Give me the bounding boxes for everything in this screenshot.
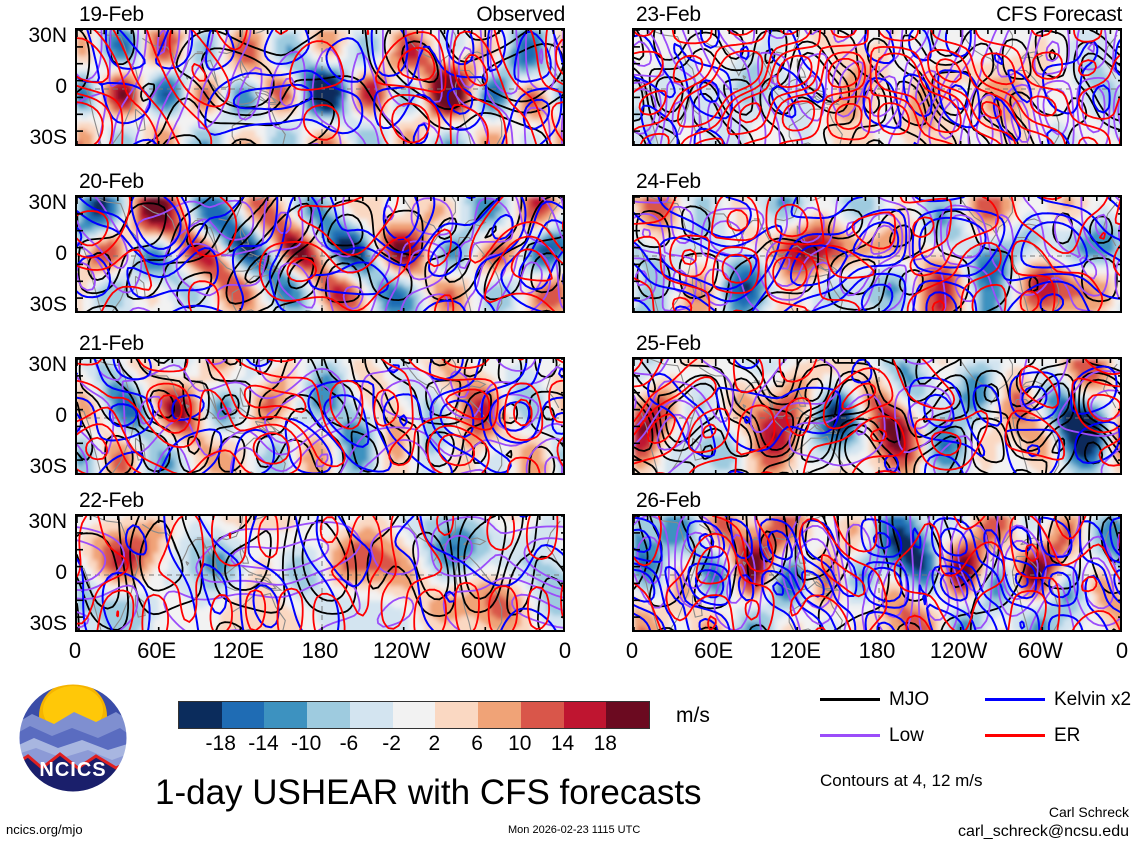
x-tick-label: 60E (137, 640, 176, 662)
y-tick-label: 0 (5, 562, 67, 583)
x-tick-label: 120W (373, 640, 430, 662)
x-tick-label: 60W (1018, 640, 1063, 662)
y-tick-label: 30S (5, 127, 67, 148)
column-header-cfs-forecast: CFS Forecast (996, 4, 1122, 25)
legend-line-swatch (985, 734, 1045, 737)
contour-levels-note: Contours at 4, 12 m/s (820, 772, 983, 789)
y-tick-label: 0 (5, 243, 67, 264)
shaded-field (634, 516, 1122, 632)
y-tick-label: 30S (5, 456, 67, 477)
colorbar-segment (564, 702, 607, 728)
y-tick-label: 30N (5, 192, 67, 213)
shaded-field (634, 197, 1122, 313)
panel-date-label: 24-Feb (636, 171, 701, 192)
site-url[interactable]: ncics.org/mjo (6, 823, 83, 836)
legend-item-er[interactable]: ER (985, 726, 1080, 745)
panel-date-label: 22-Feb (79, 490, 144, 511)
y-tick-label: 0 (5, 405, 67, 426)
shaded-field (77, 359, 565, 475)
legend-label: Low (889, 726, 924, 745)
panel-date-label: 20-Feb (79, 171, 144, 192)
contour-legend: MJOKelvin x2LowER (820, 690, 1120, 760)
panel-date-label: 21-Feb (79, 333, 144, 354)
legend-item-kelvin-x2[interactable]: Kelvin x2 (985, 690, 1131, 709)
y-tick-label: 30S (5, 294, 67, 315)
colorbar-segment (435, 702, 478, 728)
main-title: 1-day USHEAR with CFS forecasts (155, 775, 702, 810)
legend-item-mjo[interactable]: MJO (820, 690, 929, 709)
y-tick-label: 30N (5, 511, 67, 532)
colorbar-unit-label: m/s (676, 705, 710, 726)
colorbar-tick-label: 6 (471, 733, 483, 754)
y-tick-label: 0 (5, 76, 67, 97)
map-plot-area[interactable] (632, 28, 1122, 146)
colorbar-tick-label: 14 (551, 733, 574, 754)
legend-line-swatch (985, 698, 1045, 701)
x-tick-label: 120W (930, 640, 987, 662)
legend-label: Kelvin x2 (1054, 690, 1131, 709)
panel-date-label: 23-Feb (636, 4, 701, 25)
author-name: Carl Schreck (1049, 805, 1129, 819)
panel-date-label: 25-Feb (636, 333, 701, 354)
ncics-logo-text: NCICS (12, 759, 134, 782)
panel-date-label: 26-Feb (636, 490, 701, 511)
map-plot-area[interactable] (75, 357, 565, 475)
map-plot-area[interactable] (75, 195, 565, 313)
colorbar-segment (393, 702, 436, 728)
legend-line-swatch (820, 698, 880, 701)
timestamp: Mon 2026-02-23 1115 UTC (508, 825, 640, 836)
colorbar-tick-label: -6 (340, 733, 359, 754)
ncics-logo: NCICS (12, 682, 134, 794)
map-plot-area[interactable] (632, 514, 1122, 632)
x-tick-label: 60W (461, 640, 506, 662)
x-tick-label: 0 (626, 640, 638, 662)
colorbar-tick-label: 2 (429, 733, 441, 754)
map-plot-area[interactable] (75, 514, 565, 632)
y-tick-label: 30S (5, 613, 67, 634)
colorbar-tick-label: -2 (382, 733, 401, 754)
legend-line-swatch (820, 734, 880, 737)
x-tick-label: 180 (302, 640, 339, 662)
colorbar (178, 701, 650, 729)
colorbar-segment (521, 702, 564, 728)
colorbar-tick-label: -10 (291, 733, 321, 754)
column-header-observed: Observed (476, 4, 565, 25)
legend-label: ER (1054, 726, 1080, 745)
shaded-field (77, 197, 565, 313)
colorbar-segment (264, 702, 307, 728)
shaded-field (77, 30, 565, 146)
shaded-field (77, 516, 565, 632)
legend-label: MJO (889, 690, 929, 709)
shaded-field (634, 359, 1122, 475)
colorbar-tick-label: -14 (248, 733, 278, 754)
x-tick-label: 180 (859, 640, 896, 662)
colorbar-tick-label: -18 (206, 733, 236, 754)
map-plot-area[interactable] (75, 28, 565, 146)
shaded-field (634, 30, 1122, 146)
x-tick-label: 120E (213, 640, 264, 662)
x-tick-label: 0 (69, 640, 81, 662)
colorbar-tick-label: 18 (594, 733, 617, 754)
author-email[interactable]: carl_schreck@ncsu.edu (958, 824, 1129, 840)
y-tick-label: 30N (5, 354, 67, 375)
colorbar-segment (222, 702, 265, 728)
colorbar-segment (350, 702, 393, 728)
map-plot-area[interactable] (632, 357, 1122, 475)
colorbar-segment (478, 702, 521, 728)
colorbar-tick-label: 10 (508, 733, 531, 754)
y-tick-label: 30N (5, 25, 67, 46)
x-tick-label: 60E (694, 640, 733, 662)
colorbar-segment (307, 702, 350, 728)
panel-date-label: 19-Feb (79, 4, 144, 25)
legend-item-low[interactable]: Low (820, 726, 924, 745)
x-tick-label: 120E (770, 640, 821, 662)
x-tick-label: 0 (1116, 640, 1128, 662)
x-tick-label: 0 (559, 640, 571, 662)
colorbar-segment (606, 702, 649, 728)
map-plot-area[interactable] (632, 195, 1122, 313)
colorbar-segment (179, 702, 222, 728)
